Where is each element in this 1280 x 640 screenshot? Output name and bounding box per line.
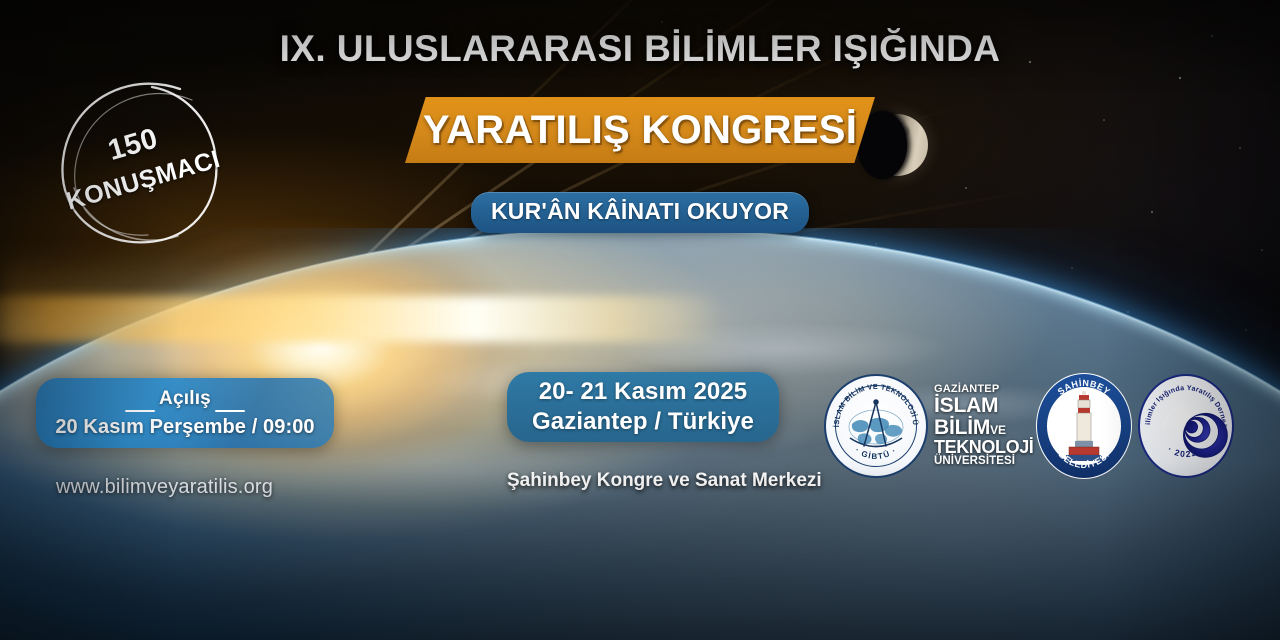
subtitle-pill-text: KUR'ÂN KÂİNATI OKUYOR bbox=[491, 198, 789, 224]
logo-yaratilis-dernegi: Bilimler Işığında Yaratılış Derneği · 20… bbox=[1138, 374, 1234, 478]
opening-info-card: Açılış 20 Kasım Perşembe / 09:00 bbox=[36, 378, 334, 448]
opening-datetime: 20 Kasım Perşembe / 09:00 bbox=[55, 416, 314, 439]
world-map-icon bbox=[849, 410, 903, 445]
logo-gibtu-seal: GAZİANTEP İSLAM BİLİM VE TEKNOLOJİ ÜNİVE… bbox=[824, 374, 928, 478]
crescent-moon-icon bbox=[866, 114, 928, 176]
wordmark-line-5: ÜNİVERSİTESİ bbox=[934, 456, 1030, 468]
seal-graphics: GAZİANTEP İSLAM BİLİM VE TEKNOLOJİ ÜNİVE… bbox=[824, 374, 928, 478]
seal-bottom-label: · GİBTÜ · bbox=[853, 446, 898, 461]
wordmark-line-4: TEKNOLOJİ bbox=[934, 438, 1030, 456]
event-location: Gaziantep / Türkiye bbox=[532, 408, 754, 436]
wordmark-line-2: İSLAM bbox=[934, 395, 1030, 416]
page-title: IX. ULUSLARARASI BİLİMLER IŞIĞINDA bbox=[0, 28, 1280, 70]
monument-icon bbox=[1066, 391, 1102, 461]
wordmark-line-3-small: VE bbox=[990, 423, 1006, 437]
event-date-card: 20- 21 Kasım 2025 Gaziantep / Türkiye bbox=[507, 372, 779, 442]
title-band: YARATILIŞ KONGRESİ bbox=[405, 97, 875, 163]
sun-flare-beam bbox=[0, 296, 720, 342]
subtitle-pill: KUR'ÂN KÂİNATI OKUYOR bbox=[471, 192, 809, 233]
speaker-count-number: 150 bbox=[105, 124, 161, 166]
event-dates: 20- 21 Kasım 2025 bbox=[539, 378, 748, 406]
logo-gibtu-wordmark: GAZİANTEP İSLAM BİLİMVE TEKNOLOJİ ÜNİVER… bbox=[934, 374, 1030, 478]
sahinbey-graphics: ŞAHİNBEY BELEDİYESİ bbox=[1036, 373, 1132, 479]
logo-strip: GAZİANTEP İSLAM BİLİM VE TEKNOLOJİ ÜNİVE… bbox=[824, 370, 1250, 482]
congress-poster: 150 KONUŞMACI IX. ULUSLARARASI BİLİMLER … bbox=[0, 0, 1280, 640]
opening-label: Açılış bbox=[125, 388, 245, 413]
title-band-text: YARATILIŞ KONGRESİ bbox=[423, 108, 857, 153]
speaker-count-badge: 150 KONUŞMACI bbox=[52, 76, 224, 248]
venue-name: Şahinbey Kongre ve Sanat Merkezi bbox=[507, 470, 779, 492]
wordmark-line-3-main: BİLİM bbox=[934, 416, 990, 439]
wordmark-line-3: BİLİMVE bbox=[934, 417, 1030, 438]
logo-sahinbey-belediyesi: ŞAHİNBEY BELEDİYESİ bbox=[1036, 373, 1132, 479]
nautilus-graphics: Bilimler Işığında Yaratılış Derneği · 20… bbox=[1138, 374, 1234, 478]
website-url[interactable]: www.bilimveyaratilis.org bbox=[56, 476, 273, 499]
